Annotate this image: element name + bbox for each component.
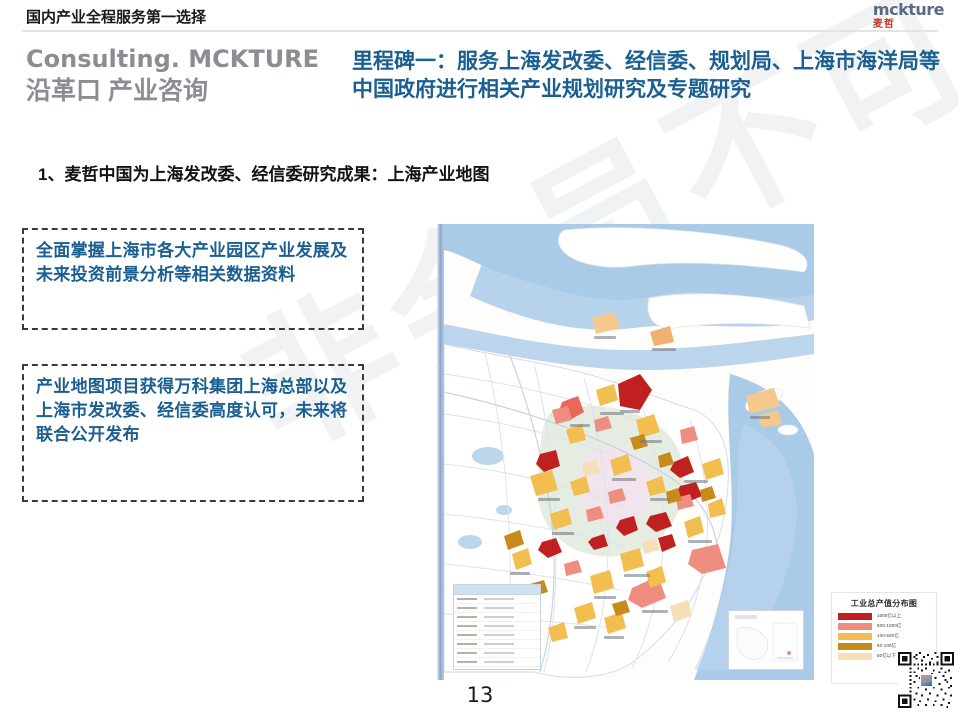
- legend-item: 100-500亿: [838, 633, 930, 640]
- map-data-table-row: [454, 613, 540, 622]
- callout-box-2: 产业地图项目获得万科集团上海总部以及上海市发改委、经信委高度认可，未来将联合公开…: [22, 364, 364, 502]
- legend-swatch-icon: [838, 653, 872, 660]
- map-data-table-row: [454, 640, 540, 649]
- section-title-chinese: 沿革口 产业咨询: [26, 76, 319, 106]
- legend-item-label: 100-500亿: [877, 634, 899, 639]
- slide-header: 国内产业全程服务第一选择 mckture 麦哲: [0, 0, 960, 31]
- legend-item-label: 50亿以下: [877, 654, 896, 659]
- map-data-table-row: [454, 622, 540, 631]
- callout-box-1-text: 全面掌握上海市各大产业园区产业发展及未来投资前景分析等相关数据资料: [36, 239, 352, 287]
- qr-code[interactable]: [898, 652, 954, 708]
- callout-box-2-text: 产业地图项目获得万科集团上海总部以及上海市发改委、经信委高度认可，未来将联合公开…: [36, 375, 352, 447]
- legend-swatch-icon: [838, 623, 872, 630]
- shanghai-industry-map: [437, 224, 814, 680]
- map-inset-vector: [729, 611, 803, 669]
- milestone-heading: 里程碑一：服务上海发改委、经信委、规划局、上海市海洋局等中国政府进行相关产业规划…: [352, 48, 948, 105]
- map-data-table-header: [454, 585, 540, 595]
- map-data-table-row: [454, 631, 540, 640]
- legend-swatch-icon: [838, 633, 872, 640]
- page-number: 13: [0, 683, 960, 707]
- map-data-table-row: [454, 604, 540, 613]
- legend-item: 50-100亿: [838, 643, 930, 650]
- legend-item-label: 1000亿以上: [877, 614, 901, 619]
- map-left-border-stripe: [437, 224, 444, 680]
- logo-wordmark: mckture: [873, 2, 944, 18]
- legend-item: 500-1000亿: [838, 623, 930, 630]
- header-title: 国内产业全程服务第一选择: [26, 6, 206, 27]
- brand-logo: mckture 麦哲: [873, 2, 944, 30]
- section-title-english: Consulting. MCKTURE: [26, 46, 319, 74]
- slide-root: 非会员不可 国内产业全程服务第一选择 mckture 麦哲 Consulting…: [0, 0, 960, 720]
- callout-box-1: 全面掌握上海市各大产业园区产业发展及未来投资前景分析等相关数据资料: [22, 228, 364, 330]
- logo-chinese-name: 麦哲: [873, 20, 944, 30]
- page-subtitle: 1、麦哲中国为上海发改委、经信委研究成果：上海产业地图: [38, 160, 489, 185]
- header-divider: [22, 30, 938, 32]
- legend-item-label: 50-100亿: [877, 644, 896, 649]
- section-title-left: Consulting. MCKTURE 沿革口 产业咨询: [26, 46, 319, 106]
- map-legend-title: 工业总产值分布图: [838, 598, 930, 609]
- map-data-table-row: [454, 649, 540, 658]
- legend-swatch-icon: [838, 643, 872, 650]
- map-data-table: [453, 584, 541, 670]
- legend-swatch-icon: [838, 613, 872, 620]
- legend-item: 1000亿以上: [838, 613, 930, 620]
- map-data-table-row: [454, 595, 540, 604]
- legend-item-label: 500-1000亿: [877, 624, 901, 629]
- map-data-table-row: [454, 658, 540, 667]
- map-inset-panel: [728, 610, 804, 670]
- qr-center-logo: [920, 674, 933, 687]
